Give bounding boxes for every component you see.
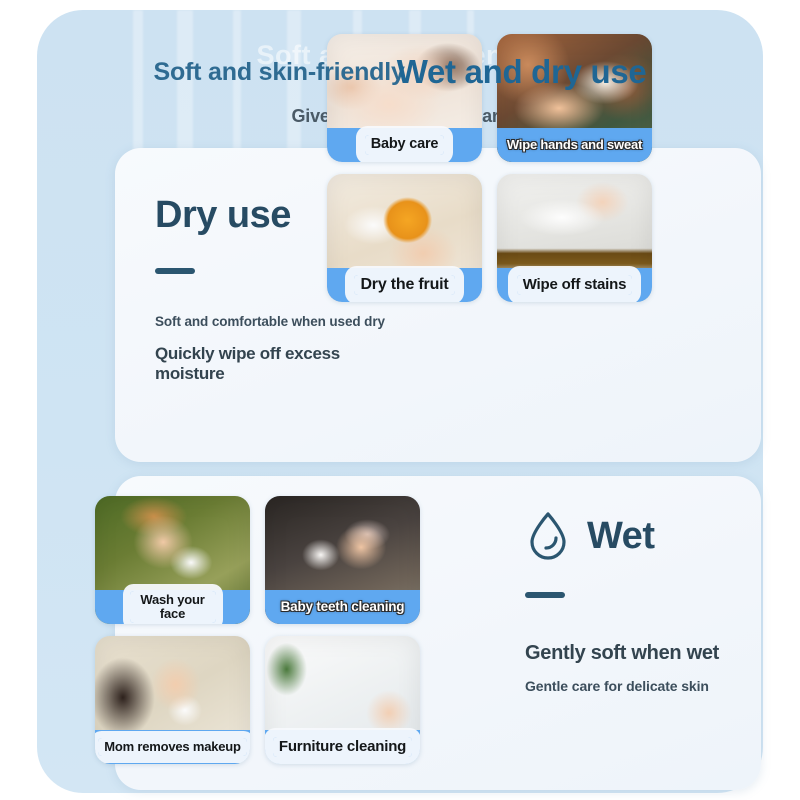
caption-wrap: Wash your face bbox=[95, 590, 250, 624]
dry-use-line-large: Quickly wipe off excess moisture bbox=[155, 344, 395, 384]
dry-use-rule bbox=[155, 268, 195, 274]
wet-use-line-large: Gently soft when wet bbox=[525, 642, 755, 665]
caption-wrap: Mom removes makeup bbox=[95, 730, 250, 764]
caption-wrap: Wipe hands and sweat bbox=[497, 128, 652, 162]
tile-caption: Wipe off stains bbox=[517, 275, 633, 295]
caption-wrap: Baby care bbox=[327, 128, 482, 162]
tile-caption: Wipe hands and sweat bbox=[501, 136, 648, 154]
wet-use-rule bbox=[525, 592, 565, 598]
tile-caption: Dry the fruit bbox=[354, 275, 454, 296]
background-panel: Soft and skin-friendly Soft and skin-fri… bbox=[37, 10, 763, 793]
tile-caption: Wash your face bbox=[130, 591, 216, 622]
title-main: Wet and dry use bbox=[397, 53, 647, 91]
tile-mom-removes-makeup[interactable]: Mom removes makeup bbox=[95, 636, 250, 764]
tile-caption: Baby teeth cleaning bbox=[275, 598, 411, 616]
tile-caption: Mom removes makeup bbox=[98, 738, 247, 756]
tile-caption: Baby care bbox=[365, 135, 445, 154]
wet-title-row: Wet bbox=[525, 510, 755, 562]
caption-wrap: Wipe off stains bbox=[497, 268, 652, 302]
wet-use-heading-block: Wet Gently soft when wet Gentle care for… bbox=[525, 510, 755, 694]
tile-caption: Furniture cleaning bbox=[273, 737, 412, 757]
tile-furniture-cleaning[interactable]: Furniture cleaning bbox=[265, 636, 420, 764]
tile-baby-teeth-cleaning[interactable]: Baby teeth cleaning bbox=[265, 496, 420, 624]
title-prefix: Soft and skin-friendly bbox=[154, 58, 405, 87]
wet-use-title: Wet bbox=[587, 517, 654, 555]
tile-dry-the-fruit[interactable]: Dry the fruit bbox=[327, 174, 482, 302]
wet-use-line-small: Gentle care for delicate skin bbox=[525, 678, 755, 694]
dry-use-line-small: Soft and comfortable when used dry bbox=[155, 314, 395, 329]
infographic-page: Soft and skin-friendly Soft and skin-fri… bbox=[0, 0, 800, 800]
water-drop-icon bbox=[525, 510, 571, 562]
tile-wipe-off-stains[interactable]: Wipe off stains bbox=[497, 174, 652, 302]
tile-wash-your-face[interactable]: Wash your face bbox=[95, 496, 250, 624]
caption-wrap: Dry the fruit bbox=[327, 268, 482, 302]
caption-wrap: Baby teeth cleaning bbox=[265, 590, 420, 624]
caption-wrap: Furniture cleaning bbox=[265, 730, 420, 764]
